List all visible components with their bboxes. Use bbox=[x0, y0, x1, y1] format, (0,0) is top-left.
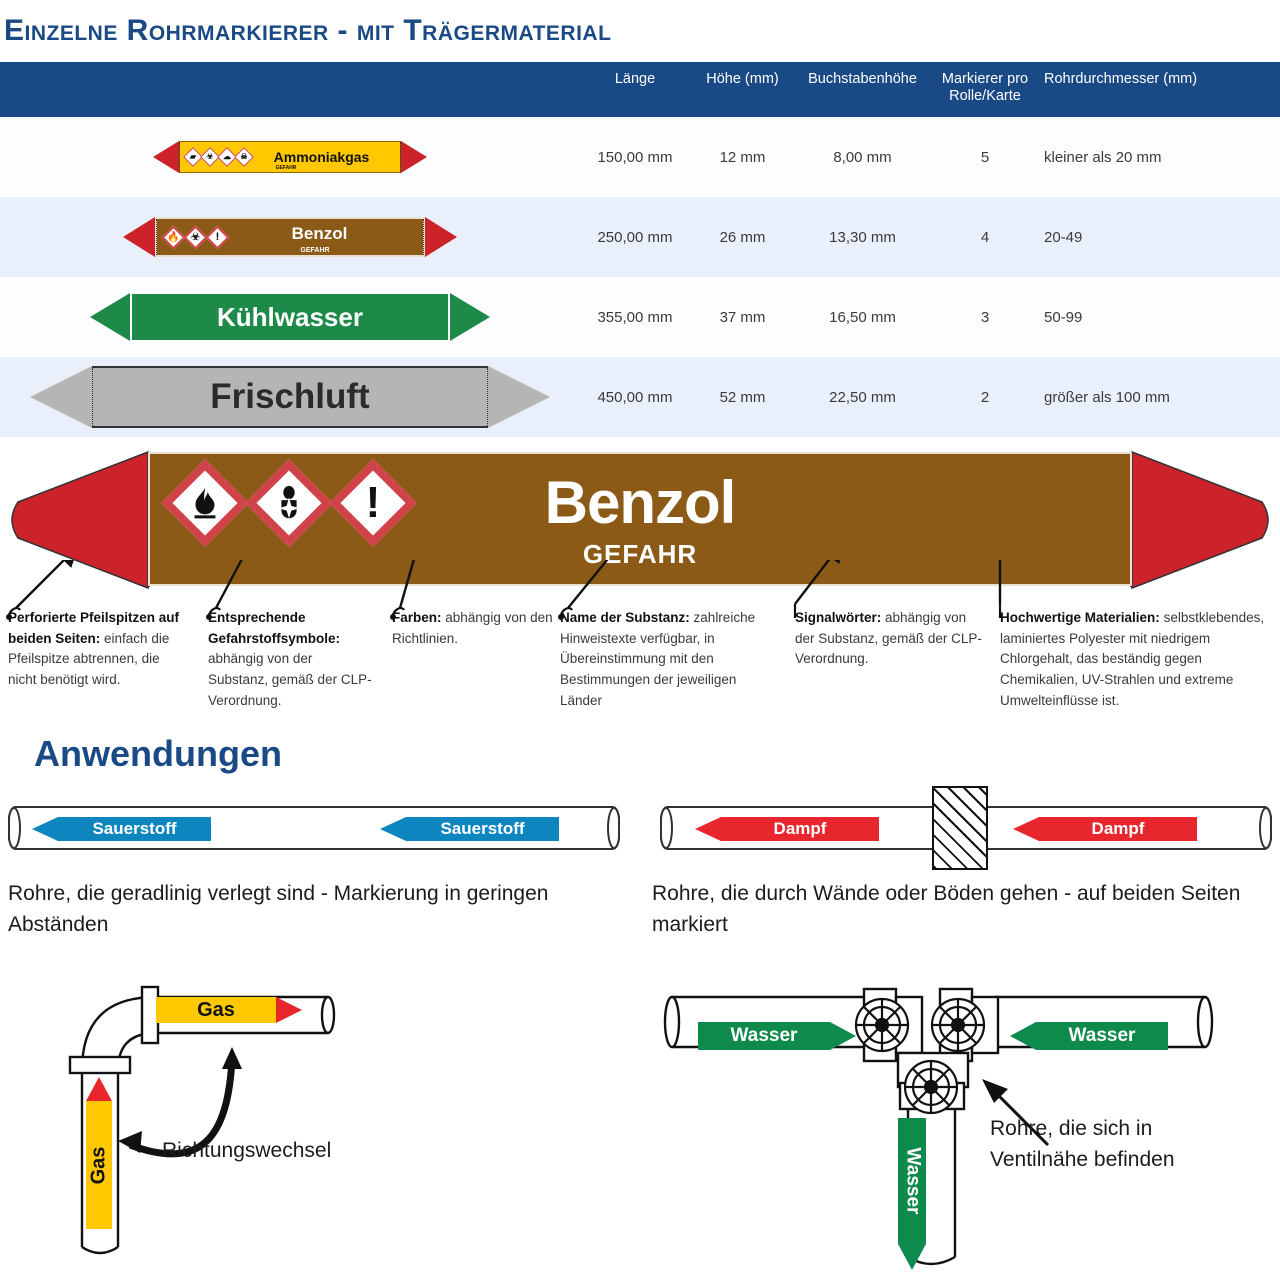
annotation-item: Entsprechende Gefahrstoffsymbole: abhäng… bbox=[208, 608, 373, 711]
ghs-symbol: ☠ bbox=[238, 151, 250, 163]
cell-length: 250,00 mm bbox=[580, 229, 690, 246]
column-header-height: Höhe (mm) bbox=[690, 71, 795, 88]
marker-band-wasser-vertical: Wasser bbox=[898, 1118, 926, 1270]
column-header-letter-height: Buchstabenhöhe bbox=[795, 71, 930, 88]
caption-wall-pipes: Rohre, die durch Wände oder Böden gehen … bbox=[652, 878, 1252, 940]
table-row: Kühlwasser 355,00 mm 37 mm 16,50 mm 3 50… bbox=[0, 277, 1280, 357]
flame-icon: 🔥 bbox=[167, 231, 180, 244]
annotation-item: Hochwertige Materialien: selbstklebendes… bbox=[1000, 608, 1272, 711]
cell-length: 150,00 mm bbox=[580, 149, 690, 166]
annotation-item: Name der Substanz: zahlreiche Hinweistex… bbox=[560, 608, 775, 711]
specification-table: Länge Höhe (mm) Buchstabenhöhe Markierer… bbox=[0, 62, 1280, 437]
ghs-symbol: ☁ bbox=[221, 151, 233, 163]
annotation-heading: Name der Substanz: bbox=[560, 610, 690, 625]
table-row: Frischluft 450,00 mm 52 mm 22,50 mm 2 gr… bbox=[0, 357, 1280, 437]
cell-height: 12 mm bbox=[690, 149, 795, 166]
cell-height: 26 mm bbox=[690, 229, 795, 246]
column-header-pipe-diameter: Rohrdurchmesser (mm) bbox=[1040, 71, 1280, 88]
marker-band-sauerstoff-1: Sauerstoff bbox=[32, 817, 211, 841]
cell-letter-height: 13,30 mm bbox=[795, 229, 930, 246]
marker-band-gas-vertical: Gas bbox=[86, 1077, 112, 1229]
cell-pipe-diameter: größer als 100 mm bbox=[1040, 389, 1280, 406]
marker-label: Benzol bbox=[226, 224, 423, 244]
cell-letter-height: 8,00 mm bbox=[795, 149, 930, 166]
health-hazard-icon: ☣ bbox=[189, 231, 202, 244]
featured-marker-name: Benzol bbox=[150, 468, 1130, 537]
column-header-per-roll: Markierer pro Rolle/Karte bbox=[930, 71, 1040, 104]
caption-valve-pipes: Rohre, die sich in Ventilnähe befinden bbox=[990, 1113, 1250, 1175]
marker-signal-word: GEFAHR bbox=[157, 247, 423, 254]
cell-pipe-diameter: 20-49 bbox=[1040, 229, 1280, 246]
band-label: Wasser bbox=[901, 1148, 923, 1215]
band-label: Gas bbox=[197, 999, 235, 1022]
cell-letter-height: 16,50 mm bbox=[795, 309, 930, 326]
caption-straight-pipes: Rohre, die geradlinig verlegt sind - Mar… bbox=[8, 878, 608, 940]
marker-label: Frischluft bbox=[92, 377, 488, 417]
annotation-body: abhängig von der Substanz, gemäß der CLP… bbox=[208, 651, 372, 707]
column-header-length: Länge bbox=[580, 71, 690, 88]
band-label: Dampf bbox=[1092, 819, 1145, 839]
table-header-row: Länge Höhe (mm) Buchstabenhöhe Markierer… bbox=[0, 62, 1280, 117]
page-title: Einzelne Rohrmarkierer - mit Trägermater… bbox=[4, 14, 611, 48]
cell-height: 37 mm bbox=[690, 309, 795, 326]
band-label: Sauerstoff bbox=[92, 819, 176, 839]
cell-per-roll: 5 bbox=[930, 149, 1040, 166]
cell-pipe-diameter: kleiner als 20 mm bbox=[1040, 149, 1280, 166]
ghs-symbol: ▰ bbox=[187, 151, 199, 163]
cell-letter-height: 22,50 mm bbox=[795, 389, 930, 406]
marker-band-dampf-1: Dampf bbox=[695, 817, 879, 841]
band-label: Gas bbox=[88, 1146, 111, 1184]
marker-band-gas-horizontal: Gas bbox=[156, 997, 302, 1023]
annotation-heading: Farben: bbox=[392, 610, 442, 625]
marker-preview-benzol: 🔥 ☣ ! Benzol GEFAHR bbox=[0, 217, 580, 257]
table-row: 🔥 ☣ ! Benzol GEFAHR 250,00 mm 26 mm 13,3… bbox=[0, 197, 1280, 277]
cell-per-roll: 2 bbox=[930, 389, 1040, 406]
marker-band-wasser-left: Wasser bbox=[698, 1022, 856, 1050]
marker-preview-kuehlwasser: Kühlwasser bbox=[0, 293, 580, 341]
cell-pipe-diameter: 50-99 bbox=[1040, 309, 1280, 326]
band-label: Sauerstoff bbox=[440, 819, 524, 839]
annotation-item: Perforierte Pfeilspitzen auf beiden Seit… bbox=[8, 608, 188, 691]
annotation-heading: Signalwörter: bbox=[795, 610, 881, 625]
cell-per-roll: 4 bbox=[930, 229, 1040, 246]
ghs-symbol: ☣ bbox=[204, 151, 216, 163]
cell-height: 52 mm bbox=[690, 389, 795, 406]
wall-section bbox=[932, 786, 988, 870]
cell-length: 355,00 mm bbox=[580, 309, 690, 326]
applications-title: Anwendungen bbox=[34, 733, 282, 775]
band-label: Dampf bbox=[774, 819, 827, 839]
cell-length: 450,00 mm bbox=[580, 389, 690, 406]
cell-per-roll: 3 bbox=[930, 309, 1040, 326]
table-row: ▰ ☣ ☁ ☠ Ammoniakgas GEFAHR 150,00 mm 12 … bbox=[0, 117, 1280, 197]
marker-preview-frischluft: Frischluft bbox=[0, 366, 580, 428]
marker-band-wasser-right: Wasser bbox=[1010, 1022, 1168, 1050]
exclamation-icon: ! bbox=[211, 231, 224, 244]
marker-signal-word: GEFAHR bbox=[180, 165, 400, 171]
marker-label: Ammoniakgas bbox=[251, 149, 400, 165]
annotation-heading: Entsprechende Gefahrstoffsymbole: bbox=[208, 610, 340, 646]
marker-band-dampf-2: Dampf bbox=[1013, 817, 1197, 841]
annotation-item: Farben: abhängig von den Richtlinien. bbox=[392, 608, 557, 649]
annotation-heading: Hochwertige Materialien: bbox=[1000, 610, 1160, 625]
band-label: Wasser bbox=[1069, 1025, 1136, 1047]
marker-preview-ammoniakgas: ▰ ☣ ☁ ☠ Ammoniakgas GEFAHR bbox=[0, 141, 580, 173]
band-label: Wasser bbox=[731, 1025, 798, 1047]
marker-band-sauerstoff-2: Sauerstoff bbox=[380, 817, 559, 841]
caption-direction-change: Richtungswechsel bbox=[162, 1135, 331, 1166]
annotation-item: Signalwörter: abhängig von der Substanz,… bbox=[795, 608, 985, 670]
marker-label: Kühlwasser bbox=[132, 302, 448, 333]
